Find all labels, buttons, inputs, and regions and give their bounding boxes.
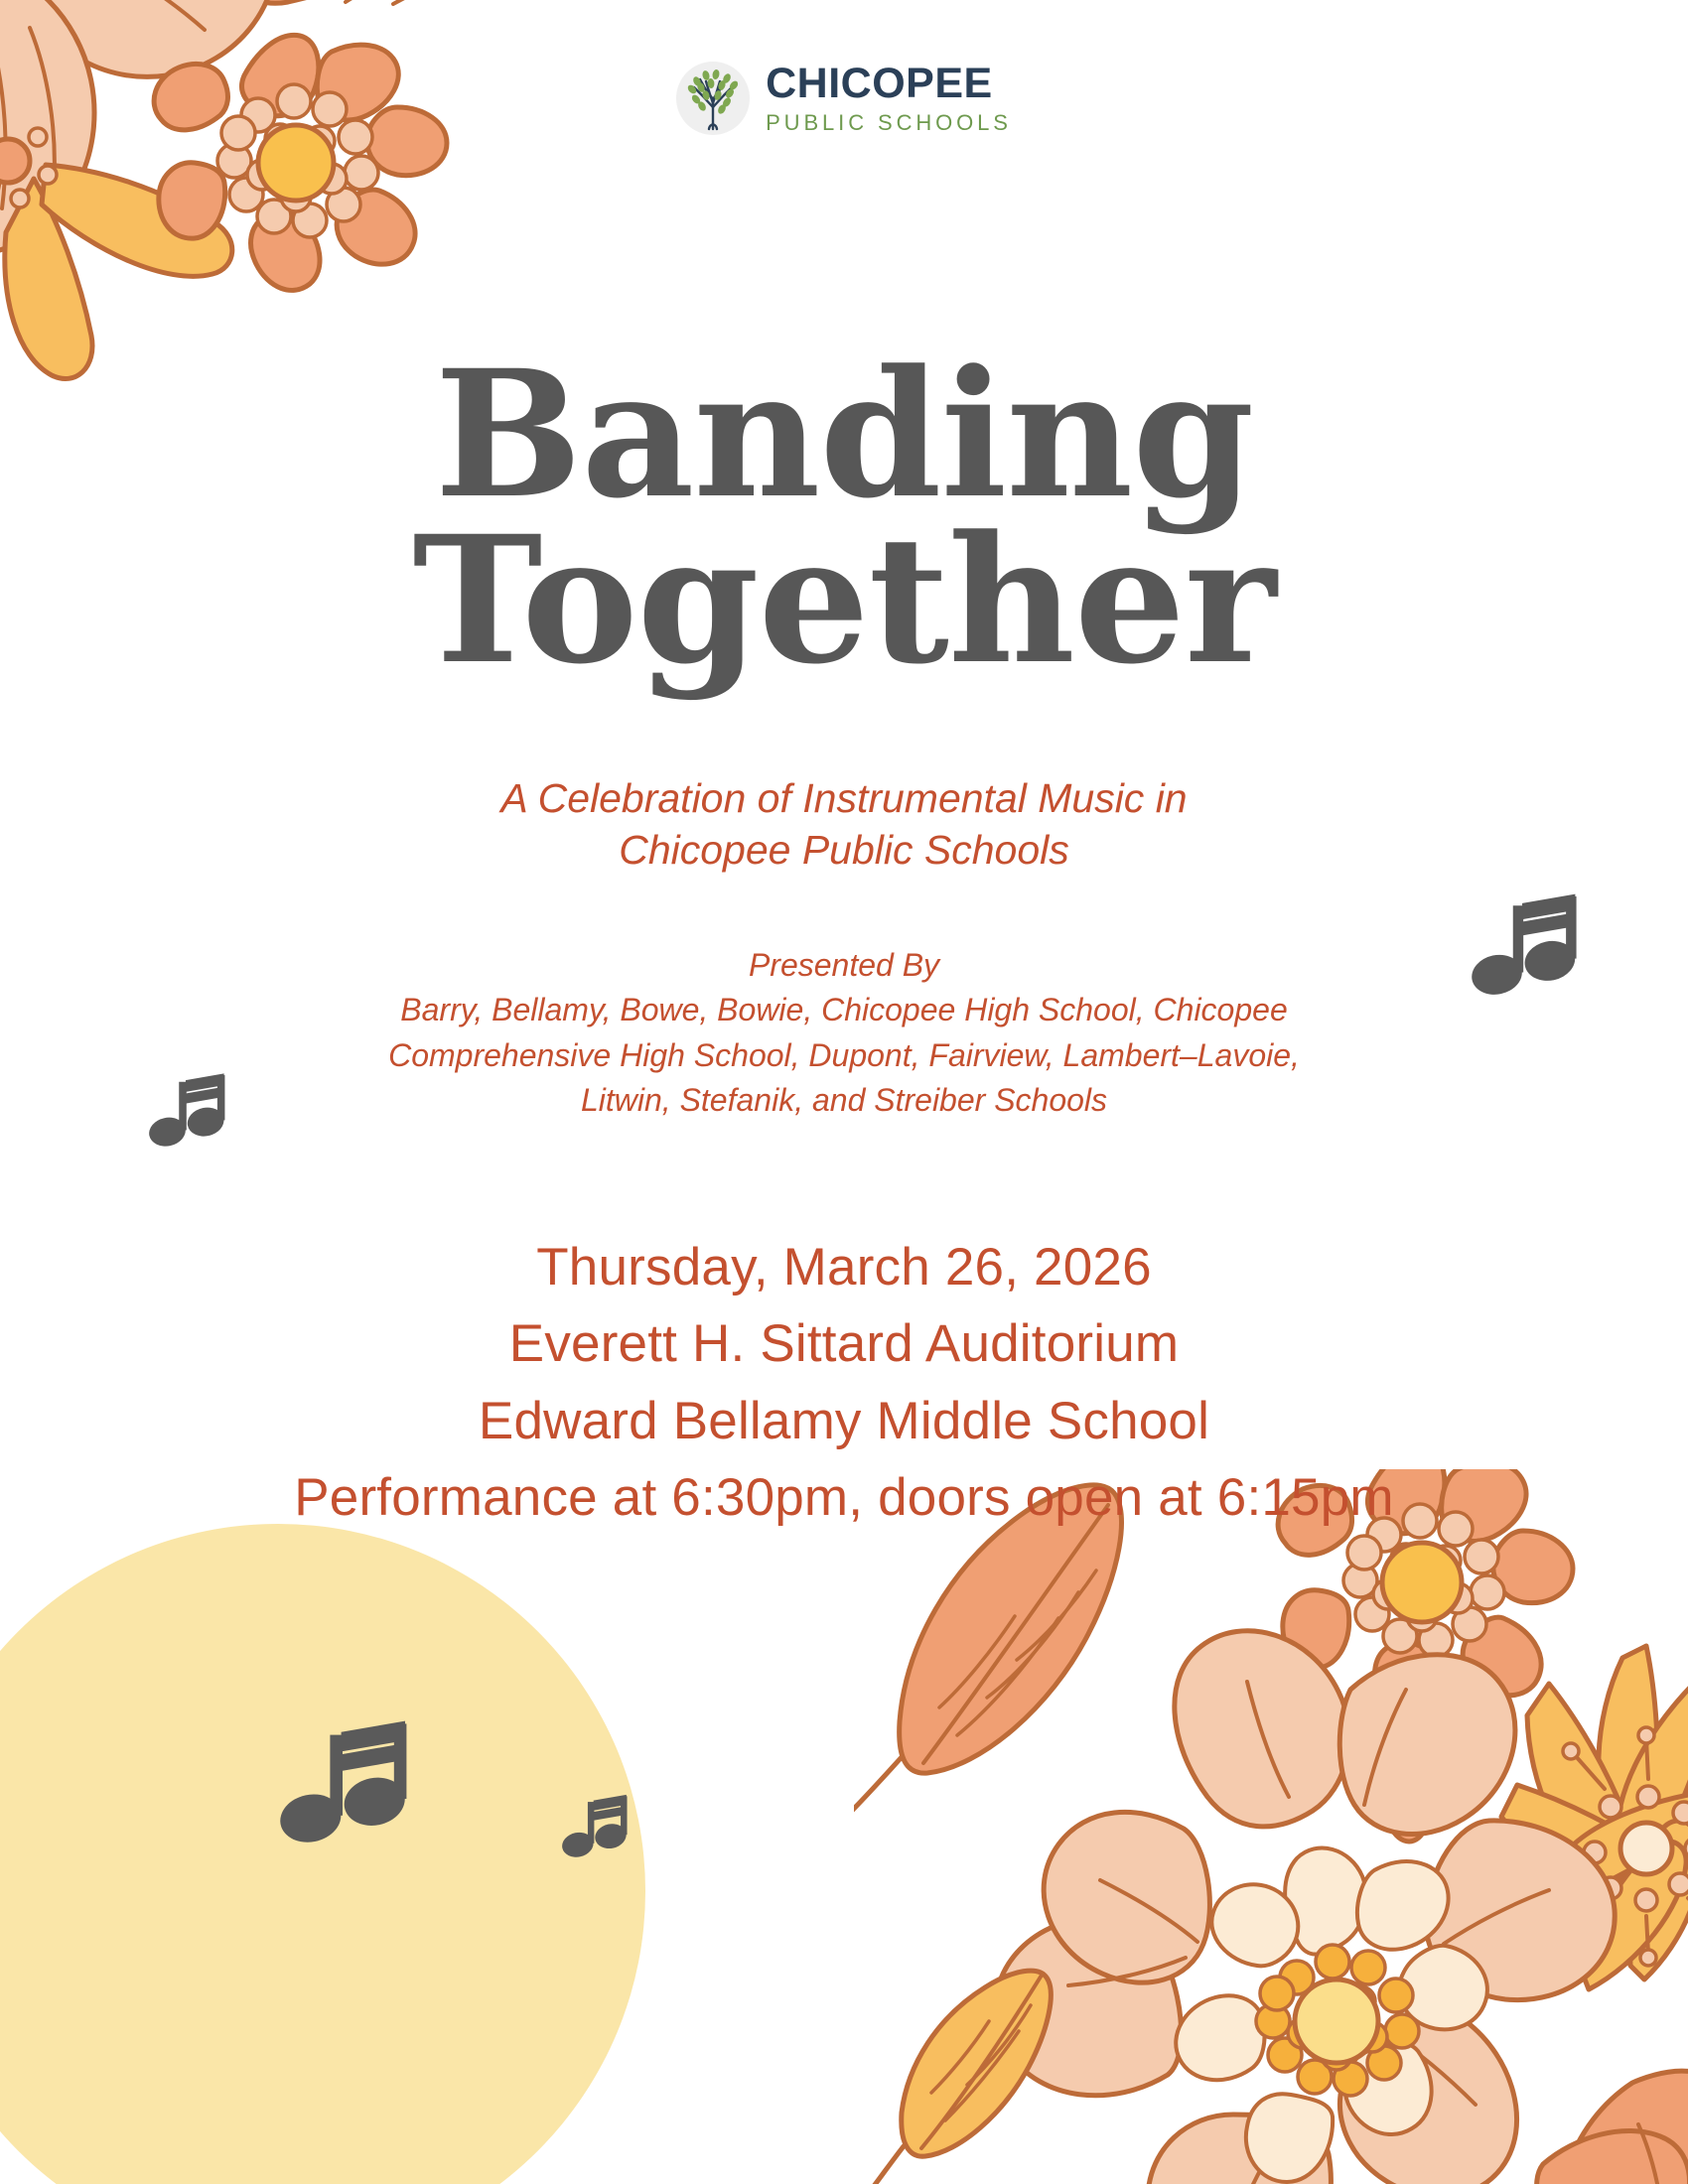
- presented-by-block: Presented By Barry, Bellamy, Bowe, Bowie…: [288, 943, 1400, 1124]
- music-note-icon: [149, 1070, 232, 1154]
- logo-wordmark: CHICOPEE PUBLIC SCHOOLS: [766, 63, 1012, 134]
- logo-secondary-text: PUBLIC SCHOOLS: [766, 112, 1012, 134]
- event-times: Performance at 6:30pm, doors open at 6:1…: [0, 1459, 1688, 1536]
- title-line-2: Together: [0, 517, 1688, 683]
- subtitle-line-1: A Celebration of Instrumental Music in: [397, 772, 1291, 824]
- logo-primary-text: CHICOPEE: [766, 63, 1012, 105]
- event-details-block: Thursday, March 26, 2026 Everett H. Sitt…: [0, 1229, 1688, 1537]
- title-line-1: Banding: [0, 351, 1688, 517]
- floral-cluster-bottom-right: [854, 1469, 1688, 2184]
- presenter-line-2: Comprehensive High School, Dupont, Fairv…: [288, 1033, 1400, 1078]
- poster-canvas: CHICOPEE PUBLIC SCHOOLS Banding Together…: [0, 0, 1688, 2184]
- event-venue: Everett H. Sittard Auditorium: [0, 1305, 1688, 1382]
- event-school: Edward Bellamy Middle School: [0, 1383, 1688, 1459]
- poster-subtitle: A Celebration of Instrumental Music in C…: [397, 772, 1291, 877]
- subtitle-line-2: Chicopee Public Schools: [397, 824, 1291, 876]
- music-note-icon: [562, 1792, 633, 1863]
- tree-icon: [676, 62, 750, 135]
- chicopee-public-schools-logo: CHICOPEE PUBLIC SCHOOLS: [0, 62, 1688, 135]
- presented-by-heading: Presented By: [288, 943, 1400, 988]
- presenter-line-1: Barry, Bellamy, Bowe, Bowie, Chicopee Hi…: [288, 988, 1400, 1032]
- event-date: Thursday, March 26, 2026: [0, 1229, 1688, 1305]
- presenter-line-3: Litwin, Stefanik, and Streiber Schools: [288, 1078, 1400, 1123]
- page-title: Banding Together: [0, 351, 1688, 683]
- music-note-icon: [1472, 889, 1587, 1005]
- music-note-icon: [280, 1715, 419, 1854]
